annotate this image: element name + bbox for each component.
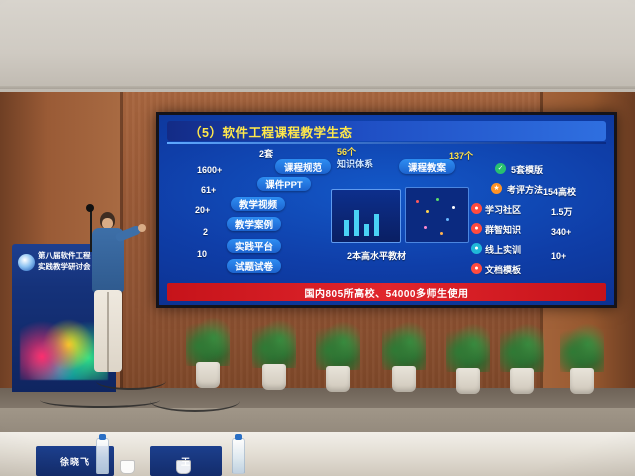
check-icon-1: ✓: [495, 163, 506, 174]
water-bottle-1: [96, 438, 109, 474]
count-platform: 20+: [195, 205, 210, 215]
count-crowd-knowledge: 1.5万: [551, 205, 573, 218]
floor-cable-1: [96, 372, 166, 390]
ribbon-course-spec: 课程规范: [275, 159, 331, 174]
potted-plant-4: [382, 320, 426, 392]
slide-title-bar: （5）软件工程课程教学生态: [167, 121, 606, 141]
ribbon-courseware-ppt: 课件PPT: [257, 177, 311, 191]
slide-body: 2套 56个 137个 课程规范 知识体系 课程教案 1600+ 课件PPT 6…: [159, 145, 614, 279]
slide-title: （5）软件工程课程教学生态: [167, 122, 352, 141]
bottle-cap: [235, 434, 242, 440]
presenter-person: [86, 212, 142, 372]
slide-title-underline: [167, 142, 606, 144]
ribbon-teaching-videos: 教学视频: [231, 197, 285, 211]
plant-foliage: [560, 322, 604, 372]
plant-pot: [510, 368, 534, 394]
conference-photo-scene: （5）软件工程课程教学生态 2套 56个 137个 课程规范 知识体系 课程教案…: [0, 0, 635, 476]
potted-plant-2: [252, 318, 296, 390]
ceiling-seam: [0, 86, 635, 89]
count-doc-template: 10+: [551, 251, 566, 261]
plant-pot: [262, 364, 286, 390]
potted-plant-7: [560, 322, 604, 394]
presentation-slide: （5）软件工程课程教学生态 2套 56个 137个 课程规范 知识体系 课程教案…: [159, 115, 614, 305]
count-learning-community: 154高校: [543, 185, 576, 198]
label-learning-community: 学习社区: [485, 203, 521, 216]
count-top-left: 2套: [259, 147, 273, 160]
label-online-training: 线上实训: [485, 243, 521, 256]
slide-center-chart-image: [331, 189, 401, 243]
plant-pot: [456, 368, 480, 394]
ribbon-teaching-cases: 教学案例: [227, 217, 281, 231]
floor-cable-3: [40, 392, 160, 408]
foreground-table: 徐晓飞 王: [0, 432, 635, 476]
plant-pot: [326, 366, 350, 392]
label-crowd-knowledge: 群智知识: [485, 223, 521, 236]
potted-plant-1: [186, 316, 230, 388]
floor-cable-2: [150, 390, 240, 412]
label-doc-template: 文档模板: [485, 263, 521, 276]
ribbon-practice-platform: 实践平台: [227, 239, 281, 253]
potted-plant-6: [500, 322, 544, 394]
doc-icon: ●: [471, 263, 482, 274]
slide-center-scatter-image: [405, 187, 469, 243]
plant-foliage: [252, 318, 296, 368]
plant-foliage: [186, 316, 230, 366]
plant-foliage: [316, 320, 360, 370]
conference-emblem-icon: [18, 254, 35, 271]
plant-foliage: [500, 322, 544, 372]
count-exams: 2: [203, 227, 208, 237]
plant-pot: [570, 368, 594, 394]
plant-pot: [392, 366, 416, 392]
paper-cup-1: [120, 460, 135, 474]
plant-foliage: [446, 322, 490, 372]
count-cases: 61+: [201, 185, 216, 195]
bottle-cap: [99, 434, 106, 440]
presenter-hand: [138, 224, 146, 232]
ribbon-exam-papers: 试题试卷: [227, 259, 281, 273]
water-bottle-2: [232, 438, 245, 474]
ribbon-knowledge-system: 知识体系: [337, 157, 373, 170]
count-videos: 1600+: [197, 165, 222, 175]
slide-bottom-banner: 国内805所高校、54000多师生使用: [167, 283, 606, 301]
presenter-leg-split: [107, 292, 109, 372]
star-icon-1: ★: [491, 183, 502, 194]
potted-plant-3: [316, 320, 360, 392]
label-assessment: 考评方法: [507, 183, 543, 196]
center-caption: 2本高水平教材: [347, 249, 406, 262]
count-last: 10: [197, 249, 207, 259]
training-icon: ●: [471, 243, 482, 254]
community-icon: ●: [471, 203, 482, 214]
ceiling: [0, 0, 635, 96]
microphone-icon: [86, 204, 94, 212]
ribbon-course-plan: 课程教案: [399, 159, 455, 174]
paper-cup-2: [176, 460, 191, 474]
label-template-sets: 5套模版: [511, 163, 543, 176]
led-display-screen: （5）软件工程课程教学生态 2套 56个 137个 课程规范 知识体系 课程教案…: [156, 112, 617, 308]
plant-foliage: [382, 320, 426, 370]
knowledge-icon: ●: [471, 223, 482, 234]
count-online-training: 340+: [551, 227, 571, 237]
potted-plant-5: [446, 322, 490, 394]
plant-pot: [196, 362, 220, 388]
